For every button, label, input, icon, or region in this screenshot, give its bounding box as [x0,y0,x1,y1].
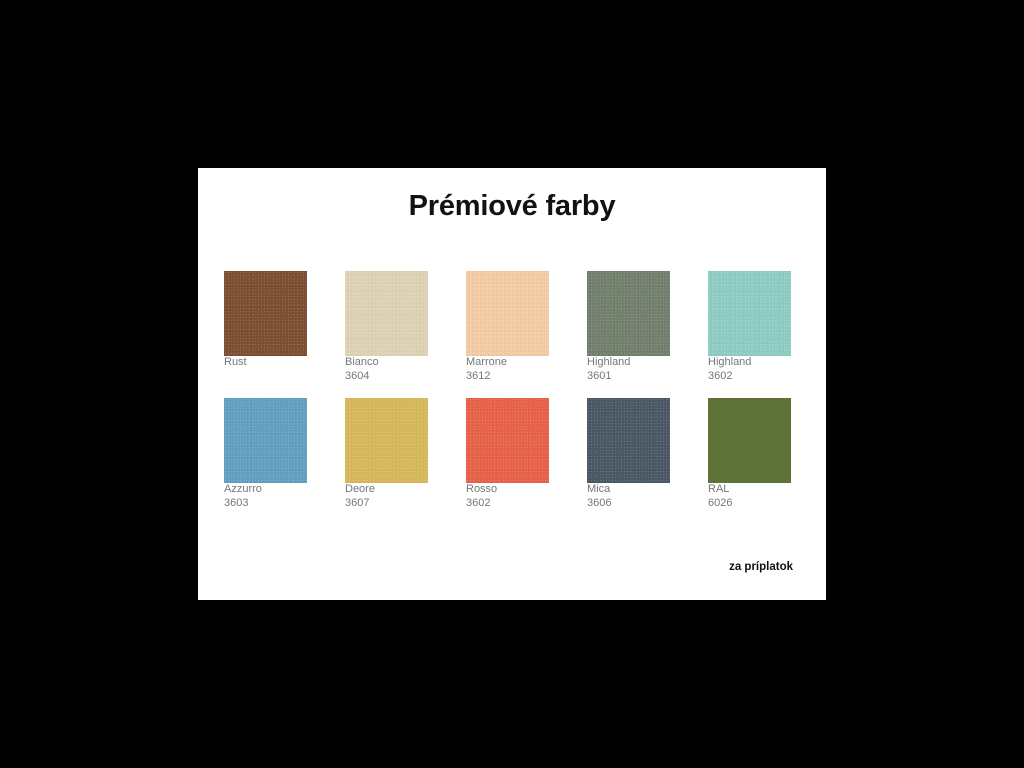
swatch-code: 3612 [466,370,549,384]
swatch-item-ral-6026[interactable]: RAL 6026 [708,398,791,510]
swatch-caption: RAL 6026 [708,483,791,510]
swatch-caption: Marrone 3612 [466,356,549,383]
swatch-item-marrone[interactable]: Marrone 3612 [466,271,549,383]
swatch-name: RAL [708,483,791,497]
swatch-name: Marrone [466,356,549,370]
swatch-caption: Rosso 3602 [466,483,549,510]
swatch-code: 3602 [708,370,791,384]
swatch-name: Rust [224,356,307,370]
swatch-code: 3607 [345,497,428,511]
surcharge-footnote: za príplatok [729,561,793,573]
color-chip[interactable] [466,271,549,356]
swatch-item-mica[interactable]: Mica 3606 [587,398,670,510]
swatch-item-bianco[interactable]: Bianco 3604 [345,271,428,383]
swatch-caption: Deore 3607 [345,483,428,510]
swatch-caption: Rust [224,356,307,370]
color-chip[interactable] [345,398,428,483]
swatch-code: 3603 [224,497,307,511]
color-chip[interactable] [224,398,307,483]
swatch-row: Rust Bianco 3604 Marrone 3612 [224,271,802,383]
slide-card: Prémiové farby Rust Bianco 3604 [198,168,826,600]
swatch-code: 3604 [345,370,428,384]
color-chip[interactable] [345,271,428,356]
swatch-code: 3602 [466,497,549,511]
swatch-caption: Mica 3606 [587,483,670,510]
swatch-item-highland-3602[interactable]: Highland 3602 [708,271,791,383]
swatch-item-rosso[interactable]: Rosso 3602 [466,398,549,510]
swatch-name: Deore [345,483,428,497]
color-chip[interactable] [708,398,791,483]
swatch-item-deore[interactable]: Deore 3607 [345,398,428,510]
color-swatch-grid: Rust Bianco 3604 Marrone 3612 [224,271,802,525]
swatch-name: Mica [587,483,670,497]
swatch-caption: Azzurro 3603 [224,483,307,510]
swatch-caption: Highland 3602 [708,356,791,383]
page-title: Prémiové farby [198,190,826,223]
color-chip[interactable] [708,271,791,356]
swatch-item-highland-3601[interactable]: Highland 3601 [587,271,670,383]
swatch-row: Azzurro 3603 Deore 3607 Rosso 3602 [224,398,802,510]
swatch-name: Azzurro [224,483,307,497]
swatch-name: Bianco [345,356,428,370]
swatch-code: 3601 [587,370,670,384]
color-chip[interactable] [466,398,549,483]
swatch-name: Highland [587,356,670,370]
color-chip[interactable] [587,398,670,483]
swatch-code: 6026 [708,497,791,511]
color-chip[interactable] [224,271,307,356]
swatch-item-rust[interactable]: Rust [224,271,307,383]
swatch-code: 3606 [587,497,670,511]
color-chip[interactable] [587,271,670,356]
swatch-caption: Highland 3601 [587,356,670,383]
swatch-name: Rosso [466,483,549,497]
swatch-item-azzurro[interactable]: Azzurro 3603 [224,398,307,510]
swatch-name: Highland [708,356,791,370]
swatch-caption: Bianco 3604 [345,356,428,383]
